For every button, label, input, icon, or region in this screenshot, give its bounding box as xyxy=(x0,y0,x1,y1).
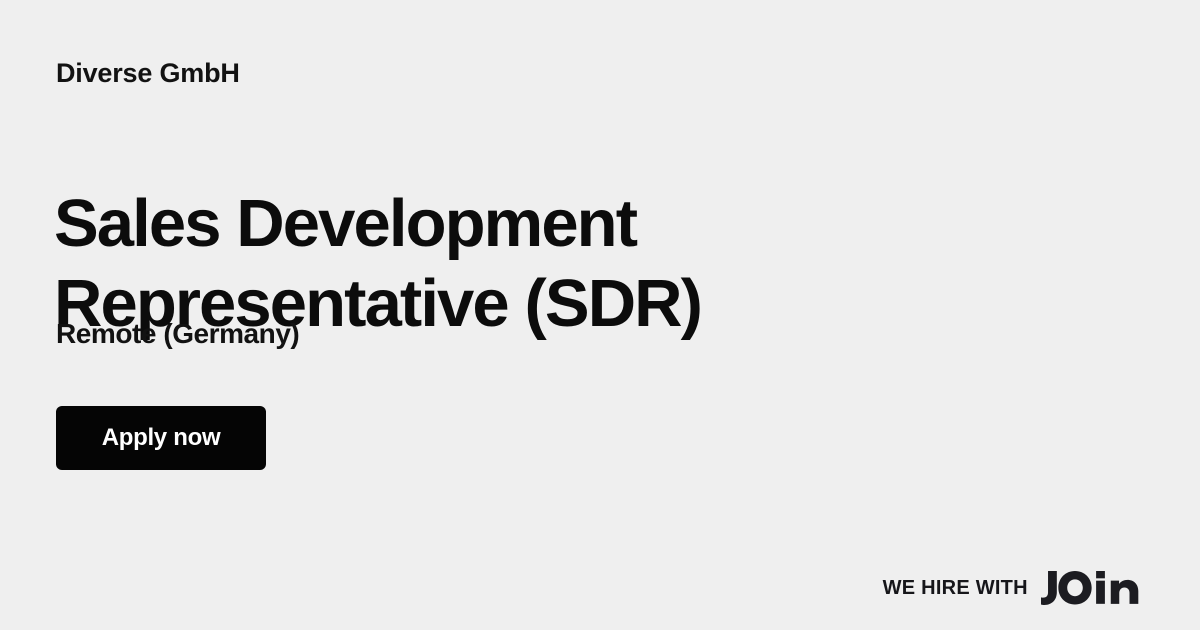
job-ad-card: Diverse GmbH Sales Development Represent… xyxy=(0,0,1200,630)
company-name: Diverse GmbH xyxy=(56,57,240,89)
footer-branding: WE HIRE WITH xyxy=(883,571,1144,605)
hire-with-label: WE HIRE WITH xyxy=(883,576,1028,600)
apply-now-button[interactable]: Apply now xyxy=(56,406,266,470)
job-location: Remote (Germany) xyxy=(56,317,299,351)
join-logo xyxy=(1041,571,1144,605)
apply-now-button-label: Apply now xyxy=(102,424,221,452)
